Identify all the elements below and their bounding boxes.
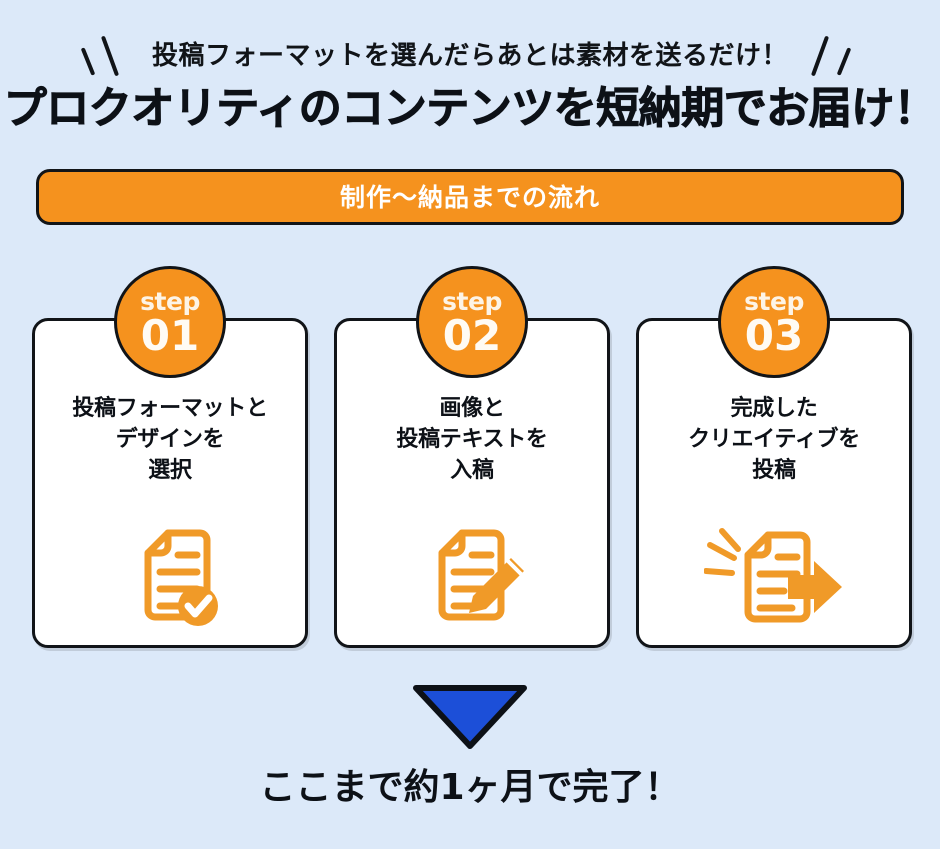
steps-container: step 01 投稿フォーマットと デザインを 選択 step 02 bbox=[32, 318, 912, 648]
section-banner: 制作〜納品までの流れ bbox=[36, 169, 904, 225]
step-badge-01: step 01 bbox=[114, 266, 226, 378]
step-text-line: 投稿テキストを bbox=[337, 424, 607, 455]
step-text-line: 選択 bbox=[35, 455, 305, 486]
step-card-02-text: 画像と 投稿テキストを 入稿 bbox=[337, 393, 607, 487]
step-badge-02: step 02 bbox=[416, 266, 528, 378]
step-card-01: step 01 投稿フォーマットと デザインを 選択 bbox=[32, 318, 308, 648]
step-text-line: 入稿 bbox=[337, 455, 607, 486]
step-text-line: 投稿 bbox=[639, 455, 909, 486]
step-text-line: 完成した bbox=[639, 393, 909, 424]
step-badge-03: step 03 bbox=[718, 266, 830, 378]
step-text-line: デザインを bbox=[35, 424, 305, 455]
step-card-02: step 02 画像と 投稿テキストを 入稿 bbox=[334, 318, 610, 648]
step-card-03: step 03 完成した クリエイティブを 投稿 bbox=[636, 318, 912, 648]
page-title: プロクオリティのコンテンツを短納期でお届け！ bbox=[0, 86, 940, 132]
step-text-line: クリエイティブを bbox=[639, 424, 909, 455]
footer-note: ここまで約1ヶ月で完了！ bbox=[0, 770, 940, 806]
step-badge-number: 01 bbox=[141, 315, 199, 357]
header: 投稿フォーマットを選んだらあとは素材を送るだけ！ プロクオリティのコンテンツを短… bbox=[0, 0, 940, 150]
step-card-01-text: 投稿フォーマットと デザインを 選択 bbox=[35, 393, 305, 487]
step-card-03-text: 完成した クリエイティブを 投稿 bbox=[639, 393, 909, 487]
step-text-line: 投稿フォーマットと bbox=[35, 393, 305, 424]
document-check-icon bbox=[35, 527, 305, 627]
subheadline-row: 投稿フォーマットを選んだらあとは素材を送るだけ！ bbox=[0, 33, 940, 79]
slash-marks-right-icon bbox=[802, 34, 860, 78]
down-triangle-arrow-icon bbox=[410, 682, 530, 752]
document-pencil-icon bbox=[337, 527, 607, 627]
step-badge-number: 03 bbox=[745, 315, 803, 357]
section-banner-label: 制作〜納品までの流れ bbox=[340, 185, 600, 210]
slash-marks-left-icon bbox=[80, 34, 138, 78]
step-badge-number: 02 bbox=[443, 315, 501, 357]
document-send-icon bbox=[639, 527, 909, 627]
step-text-line: 画像と bbox=[337, 393, 607, 424]
subheadline: 投稿フォーマットを選んだらあとは素材を送るだけ！ bbox=[152, 43, 788, 69]
